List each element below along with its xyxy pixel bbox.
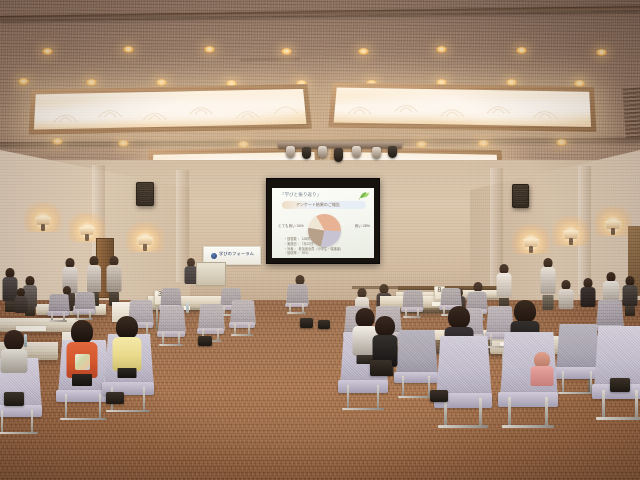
ceiling-light-panel-front-right — [328, 83, 596, 132]
recessed-downlight — [204, 46, 215, 53]
banquet-chair[interactable] — [230, 300, 254, 336]
track-spotlight — [334, 148, 343, 162]
seated-attendee — [0, 330, 28, 374]
wall-sconce — [518, 230, 544, 254]
recessed-downlight — [86, 79, 97, 86]
recessed-downlight — [556, 139, 567, 146]
slide-subtitle: アンケート結果のご報告 — [296, 202, 340, 208]
ceiling-vent-grille — [622, 87, 640, 138]
child-in-yellow-shirt — [112, 316, 142, 378]
track-spotlight — [372, 147, 381, 159]
track-spotlight — [318, 146, 327, 158]
recessed-downlight — [516, 47, 527, 54]
recessed-downlight — [436, 46, 447, 53]
recessed-downlight — [156, 79, 167, 86]
panel-floral-pattern-icon — [333, 88, 592, 136]
speaker-podium — [196, 262, 226, 286]
seated-attendee — [580, 278, 596, 312]
backpack-on-floor — [106, 392, 124, 404]
recessed-downlight — [281, 48, 292, 55]
standing-staff — [622, 276, 638, 316]
backpack-on-floor — [300, 318, 313, 328]
banquet-chair[interactable] — [402, 290, 422, 318]
organization-seal-icon — [211, 253, 217, 259]
track-spotlight — [302, 147, 311, 159]
backpack-on-floor — [198, 336, 212, 346]
standing-staff — [540, 258, 556, 310]
recessed-downlight — [42, 48, 53, 55]
track-spotlight — [286, 146, 295, 158]
banquet-chair[interactable] — [286, 284, 307, 314]
backpack-on-floor — [4, 392, 24, 406]
banquet-chair[interactable] — [594, 326, 640, 420]
seated-attendee — [558, 280, 574, 314]
conference-hall-photo: 「学びと振り返り」 アンケート結果のご報告 とても良い 34% 良い 28% ・… — [0, 0, 640, 480]
slide-title: 「学びと振り返り」 — [280, 192, 352, 199]
slide-notes: ・回答数 ： 128件 ・実施日 ： 7月22日 ・対象 ： 参加者全員（小学生… — [284, 237, 366, 256]
wall-sconce — [600, 212, 626, 236]
shirt-graphic — [75, 354, 90, 370]
banner-text: 学びのフォーラム — [219, 251, 254, 257]
recessed-downlight — [416, 141, 427, 148]
wall-sconce — [132, 228, 158, 252]
recessed-downlight — [52, 138, 63, 145]
backpack-on-floor — [610, 378, 630, 392]
ceiling-vent — [240, 57, 300, 61]
pie-label-right: 良い 28% — [355, 224, 370, 228]
projected-slide: 「学びと振り返り」 アンケート結果のご報告 とても良い 34% 良い 28% ・… — [272, 188, 374, 258]
banquet-chair[interactable] — [48, 294, 68, 322]
wall-speaker — [136, 182, 154, 206]
banquet-chair[interactable] — [436, 336, 490, 428]
child-in-orange-shirt — [66, 320, 98, 386]
recessed-downlight — [123, 46, 134, 53]
projection-screen: 「学びと振り返り」 アンケート結果のご報告 とても良い 34% 良い 28% ・… — [266, 178, 380, 264]
banquet-chair[interactable] — [74, 292, 94, 320]
track-spotlight — [352, 146, 361, 158]
pie-label-left: とても良い 34% — [278, 224, 304, 228]
water-bottle — [186, 302, 189, 313]
ceiling-beam — [0, 6, 640, 21]
seated-attendee — [530, 352, 554, 386]
wall-sconce — [558, 222, 584, 246]
wall-speaker — [512, 184, 529, 208]
wall-sconce — [30, 208, 56, 232]
panel-floral-pattern-icon — [33, 89, 307, 138]
backpack-on-floor — [430, 390, 448, 402]
slide-subtitle-bar: アンケート結果のご報告 — [282, 201, 366, 209]
recessed-downlight — [596, 49, 607, 56]
recessed-downlight — [18, 78, 29, 85]
ceiling-light-panel-front-left — [29, 84, 312, 135]
banquet-chair[interactable] — [158, 306, 184, 346]
leaf-logo-icon — [358, 190, 370, 200]
recessed-downlight — [478, 140, 489, 147]
recessed-downlight — [358, 48, 369, 55]
standing-staff — [106, 256, 122, 306]
seated-attendee — [14, 288, 28, 318]
track-spotlight — [388, 146, 397, 158]
recessed-downlight — [238, 141, 249, 148]
banquet-chair[interactable] — [396, 330, 436, 398]
backpack-on-floor — [318, 320, 330, 329]
backpack-on-floor — [370, 360, 392, 376]
recessed-downlight — [118, 140, 129, 147]
